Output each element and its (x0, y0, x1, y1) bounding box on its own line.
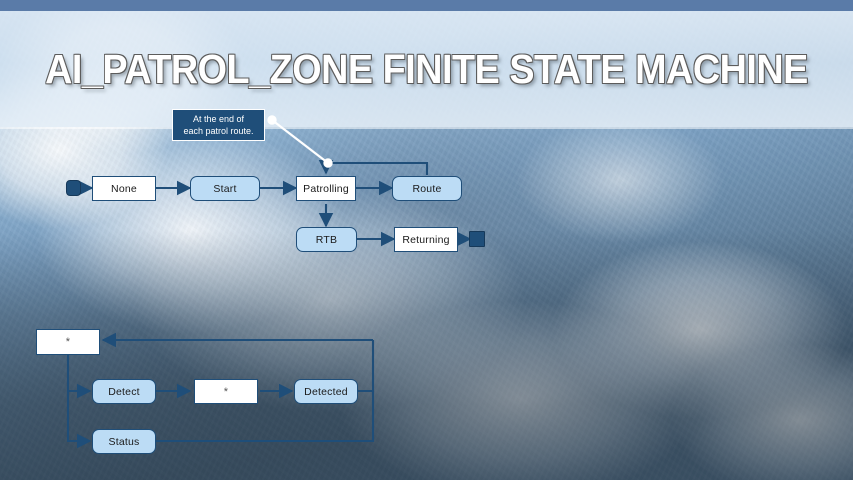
node-label: Patrolling (303, 183, 349, 195)
state-node-detect[interactable]: Detect (92, 379, 156, 404)
node-label: Start (213, 183, 236, 195)
node-label: Returning (402, 234, 449, 246)
state-node-any-top[interactable]: * (36, 329, 100, 355)
state-node-any-mid[interactable]: * (194, 379, 258, 404)
callout-line-2: each patrol route. (178, 126, 259, 138)
state-node-route[interactable]: Route (392, 176, 462, 201)
slide-canvas: AI_PATROL_ZONE FINITE STATE MACHINE (0, 0, 853, 480)
node-label: Status (109, 436, 140, 448)
state-node-returning[interactable]: Returning (394, 227, 458, 252)
node-label: Detect (108, 386, 140, 398)
state-node-patrolling[interactable]: Patrolling (296, 176, 356, 201)
callout-line-1: At the end of (178, 114, 259, 126)
node-label: Route (412, 183, 441, 195)
node-label: Detected (304, 386, 348, 398)
state-node-start[interactable]: Start (190, 176, 260, 201)
state-node-none[interactable]: None (92, 176, 156, 201)
node-label: None (111, 183, 137, 195)
state-machine-diagram: None Start Patrolling Route RTB Returnin… (0, 0, 853, 480)
end-marker (469, 231, 485, 247)
state-node-detected[interactable]: Detected (294, 379, 358, 404)
annotation-callout[interactable]: At the end of each patrol route. (172, 109, 265, 141)
start-marker (66, 180, 81, 196)
node-label: * (66, 336, 70, 348)
state-node-rtb[interactable]: RTB (296, 227, 357, 252)
node-label: * (224, 386, 228, 398)
node-label: RTB (316, 234, 337, 246)
state-node-status[interactable]: Status (92, 429, 156, 454)
